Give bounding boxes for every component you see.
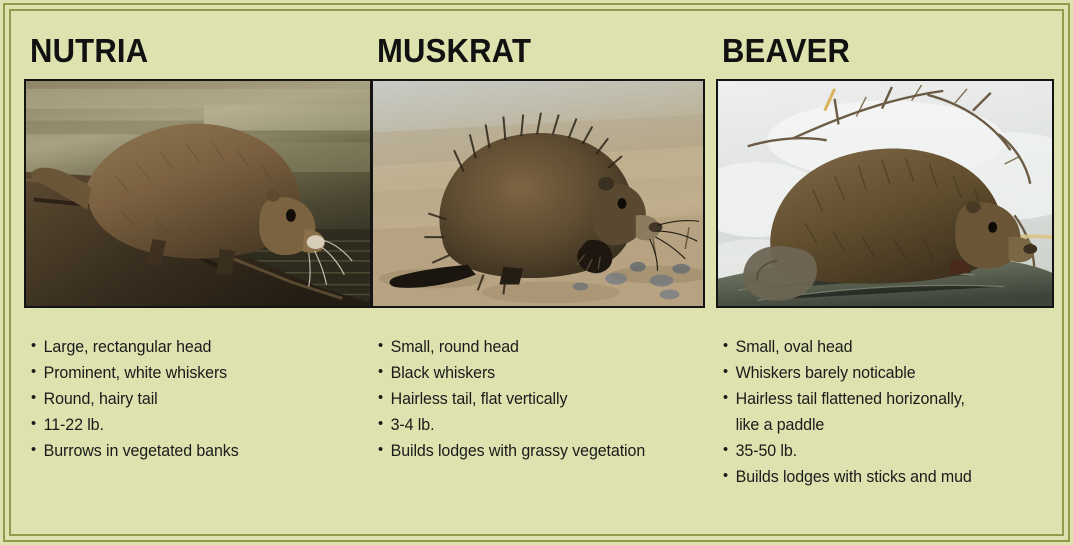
list-item: Small, round head	[378, 334, 705, 360]
species-column-beaver: BEAVER	[715, 18, 1045, 527]
fact-list-nutria: Large, rectangular head Prominent, white…	[31, 334, 370, 464]
fact-list-beaver: Small, oval head Whiskers barely noticab…	[723, 334, 1045, 490]
species-title-muskrat: MUSKRAT	[377, 34, 695, 68]
list-item: Whiskers barely noticable	[723, 360, 1035, 386]
list-item: Small, oval head	[723, 334, 1035, 360]
list-item: Builds lodges with grassy vegetation	[378, 438, 705, 464]
fact-list-muskrat: Small, round head Black whiskers Hairles…	[378, 334, 715, 464]
species-title-beaver: BEAVER	[722, 34, 1026, 68]
species-column-nutria: NUTRIA	[18, 18, 370, 527]
list-item-line-1: Hairless tail flattened horizonally,	[736, 390, 965, 408]
list-item: 3-4 lb.	[378, 412, 705, 438]
species-columns: NUTRIA	[18, 18, 1055, 527]
nutria-photo-art	[26, 81, 370, 307]
list-item: Hairless tail flattened horizonally, lik…	[723, 386, 1035, 438]
list-item: Hairless tail, flat vertically	[378, 386, 705, 412]
list-item: Round, hairy tail	[31, 386, 360, 412]
list-item: Prominent, white whiskers	[31, 360, 360, 386]
beaver-photo	[716, 79, 1054, 308]
list-item: Large, rectangular head	[31, 334, 360, 360]
list-item: 35-50 lb.	[723, 438, 1035, 464]
list-item-line-2: like a paddle	[736, 412, 1036, 438]
species-column-muskrat: MUSKRAT	[370, 18, 715, 527]
list-item: Builds lodges with sticks and mud	[723, 464, 1035, 490]
list-item: Burrows in vegetated banks	[31, 438, 360, 464]
beaver-photo-art	[718, 81, 1052, 307]
species-title-nutria: NUTRIA	[30, 34, 350, 68]
list-item: Black whiskers	[378, 360, 705, 386]
muskrat-photo	[371, 79, 705, 308]
muskrat-photo-art	[373, 81, 703, 307]
list-item: 11-22 lb.	[31, 412, 360, 438]
nutria-photo	[24, 79, 372, 308]
species-comparison-poster: NUTRIA	[0, 0, 1073, 545]
